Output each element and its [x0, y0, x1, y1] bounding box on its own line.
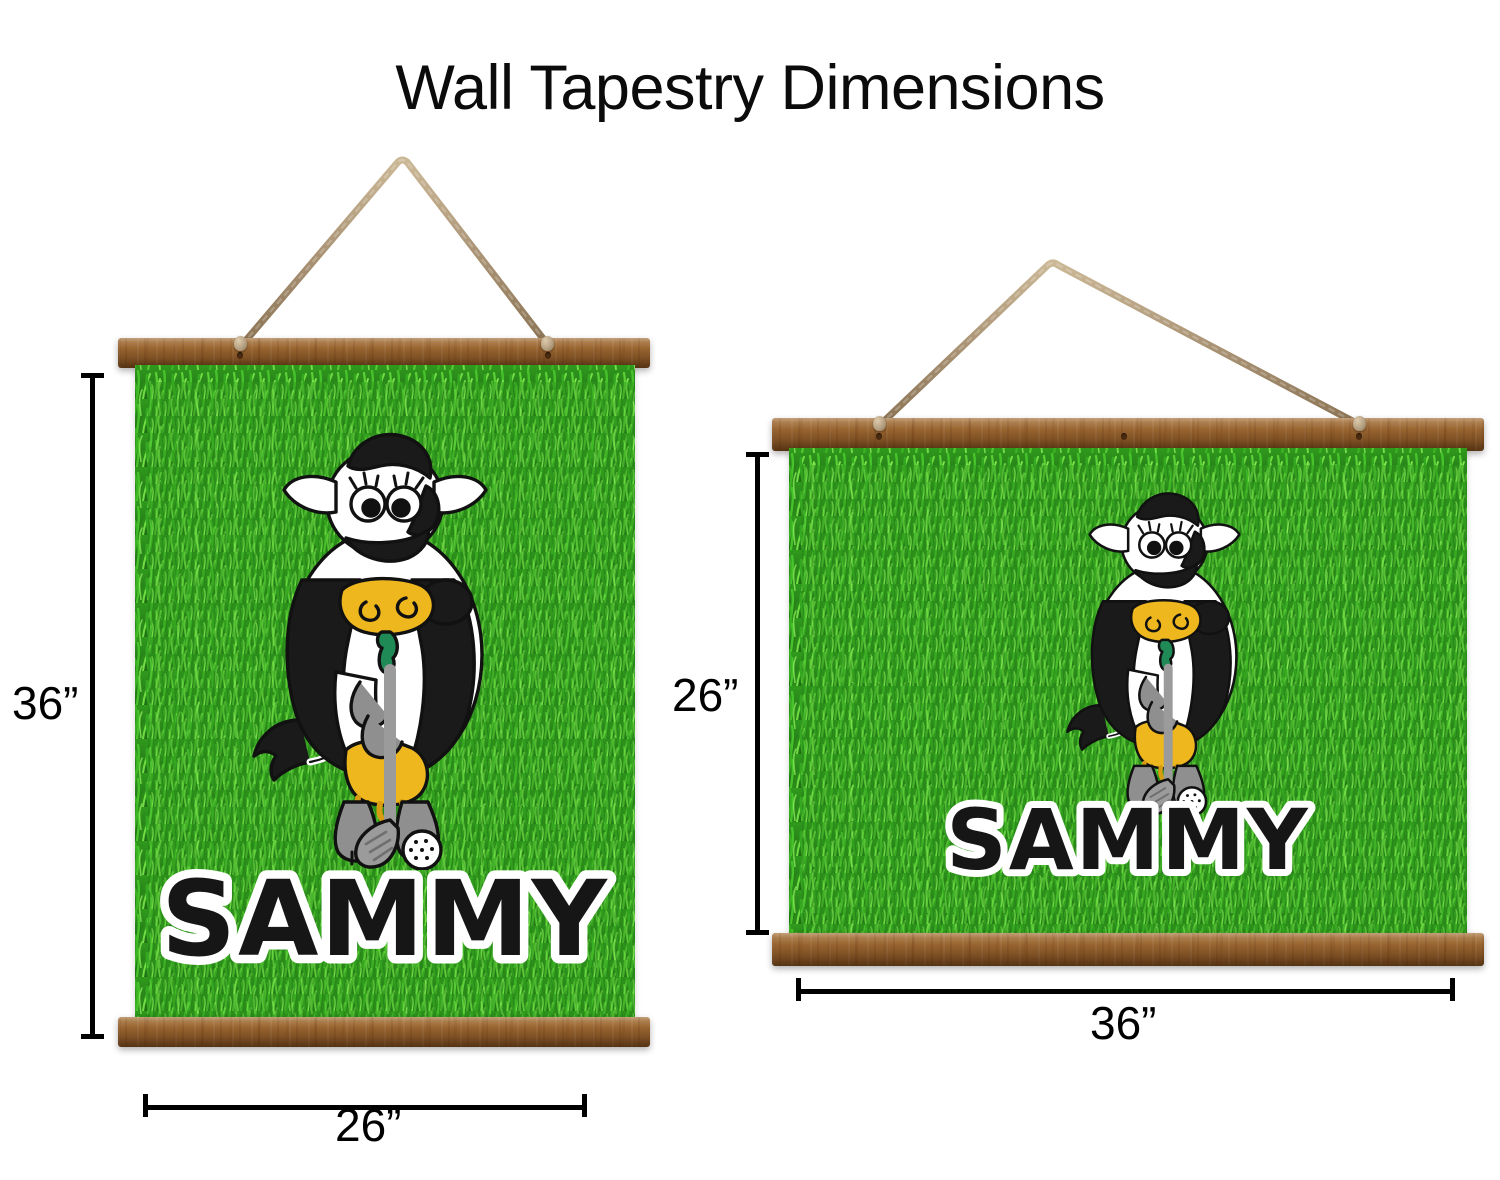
dimension-line-height-portrait — [90, 373, 95, 1039]
tapestry-landscape: SAMMY 26” 36” — [700, 0, 1500, 1180]
tapestry-name-portrait: SAMMY — [135, 863, 635, 978]
dimension-line-width-landscape — [796, 989, 1455, 994]
dimension-cap-top — [81, 373, 104, 378]
dimension-label-width-landscape: 36” — [1090, 996, 1156, 1050]
artwork-cow-landscape — [1057, 482, 1272, 817]
dowel-bottom-portrait — [118, 1017, 650, 1047]
dimension-line-height-landscape — [755, 452, 760, 935]
tapestry-fabric-portrait: SAMMY — [135, 365, 635, 1020]
dimension-label-height-portrait: 36” — [12, 676, 78, 730]
name-text-landscape: SAMMY — [946, 791, 1310, 889]
dimension-cap-left — [796, 978, 801, 1001]
dimension-label-width-portrait: 26” — [335, 1098, 401, 1152]
dimension-cap-left — [143, 1094, 148, 1117]
dowel-hole-right — [1356, 433, 1362, 440]
dowel-top-portrait — [118, 338, 650, 368]
tapestry-fabric-landscape: SAMMY — [789, 448, 1467, 936]
dimension-cap-bottom — [81, 1034, 104, 1039]
dimension-cap-right — [1450, 978, 1455, 1001]
tapestry-name-landscape: SAMMY — [789, 793, 1467, 888]
dimension-cap-bottom — [746, 930, 769, 935]
dimension-label-height-landscape: 26” — [672, 668, 738, 722]
rope-knot-right — [541, 336, 554, 351]
tapestry-portrait: SAMMY 36” 26” — [0, 0, 700, 1180]
rope-knot-right — [1353, 416, 1366, 431]
dimension-cap-right — [582, 1094, 587, 1117]
rope-knot-left — [234, 336, 247, 351]
name-text-portrait: SAMMY — [161, 858, 609, 980]
dimension-cap-top — [746, 452, 769, 457]
dowel-hole-left — [876, 433, 882, 440]
dowel-hole-mid — [1121, 433, 1127, 440]
dowel-hole-left — [237, 352, 243, 359]
rope-knot-left — [873, 416, 886, 431]
dowel-bottom-landscape — [772, 933, 1484, 966]
dowel-hole-right — [545, 352, 551, 359]
artwork-cow-portrait — [240, 420, 530, 870]
hanging-rope-landscape — [700, 0, 1500, 470]
diagram-canvas: Wall Tapestry Dimensions — [0, 0, 1500, 1180]
